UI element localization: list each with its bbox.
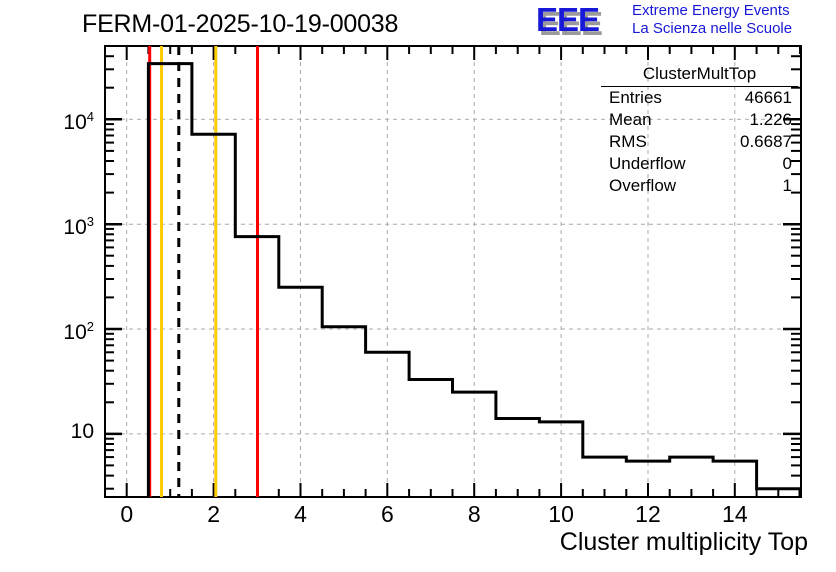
x-axis-tick-label: 0: [107, 503, 147, 526]
stats-row: Underflow0: [601, 153, 798, 175]
stats-key: Underflow: [609, 154, 686, 174]
stats-row: RMS0.6687: [601, 131, 798, 153]
x-axis-tick-label: 6: [367, 503, 407, 526]
vertical-markers: [150, 46, 258, 497]
y-axis-tick-label: 103: [34, 211, 94, 238]
stats-key: Mean: [609, 110, 652, 130]
stats-value: 1.226: [749, 110, 792, 130]
y-axis-tick-label: 102: [34, 316, 94, 343]
stats-value: 0.6687: [740, 132, 792, 152]
y-axis-tick-label: 104: [34, 106, 94, 133]
x-axis-tick-label: 8: [454, 503, 494, 526]
stats-row: Overflow1: [601, 175, 798, 197]
stats-rows: Entries46661Mean1.226RMS0.6687Underflow0…: [601, 87, 798, 197]
stats-key: Entries: [609, 88, 662, 108]
stats-key: Overflow: [609, 176, 676, 196]
stats-value: 46661: [745, 88, 792, 108]
stats-box[interactable]: ClusterMultTop Entries46661Mean1.226RMS0…: [601, 62, 798, 197]
x-axis-tick-label: 12: [628, 503, 668, 526]
stats-row: Mean1.226: [601, 109, 798, 131]
x-axis-title: Cluster multiplicity Top: [560, 528, 808, 557]
stats-value: 0: [783, 154, 792, 174]
stats-title: ClusterMultTop: [601, 62, 798, 87]
x-axis-tick-label: 10: [541, 503, 581, 526]
stats-row: Entries46661: [601, 87, 798, 109]
x-axis-tick-label: 4: [280, 503, 320, 526]
y-axis-tick-label: 10: [34, 421, 94, 442]
stats-key: RMS: [609, 132, 647, 152]
x-axis-tick-label: 2: [194, 503, 234, 526]
stats-value: 1: [783, 176, 792, 196]
root-canvas: FERM-01-2025-10-19-00038 EEE Extreme Ene…: [0, 0, 836, 572]
x-axis-tick-label: 14: [715, 503, 755, 526]
